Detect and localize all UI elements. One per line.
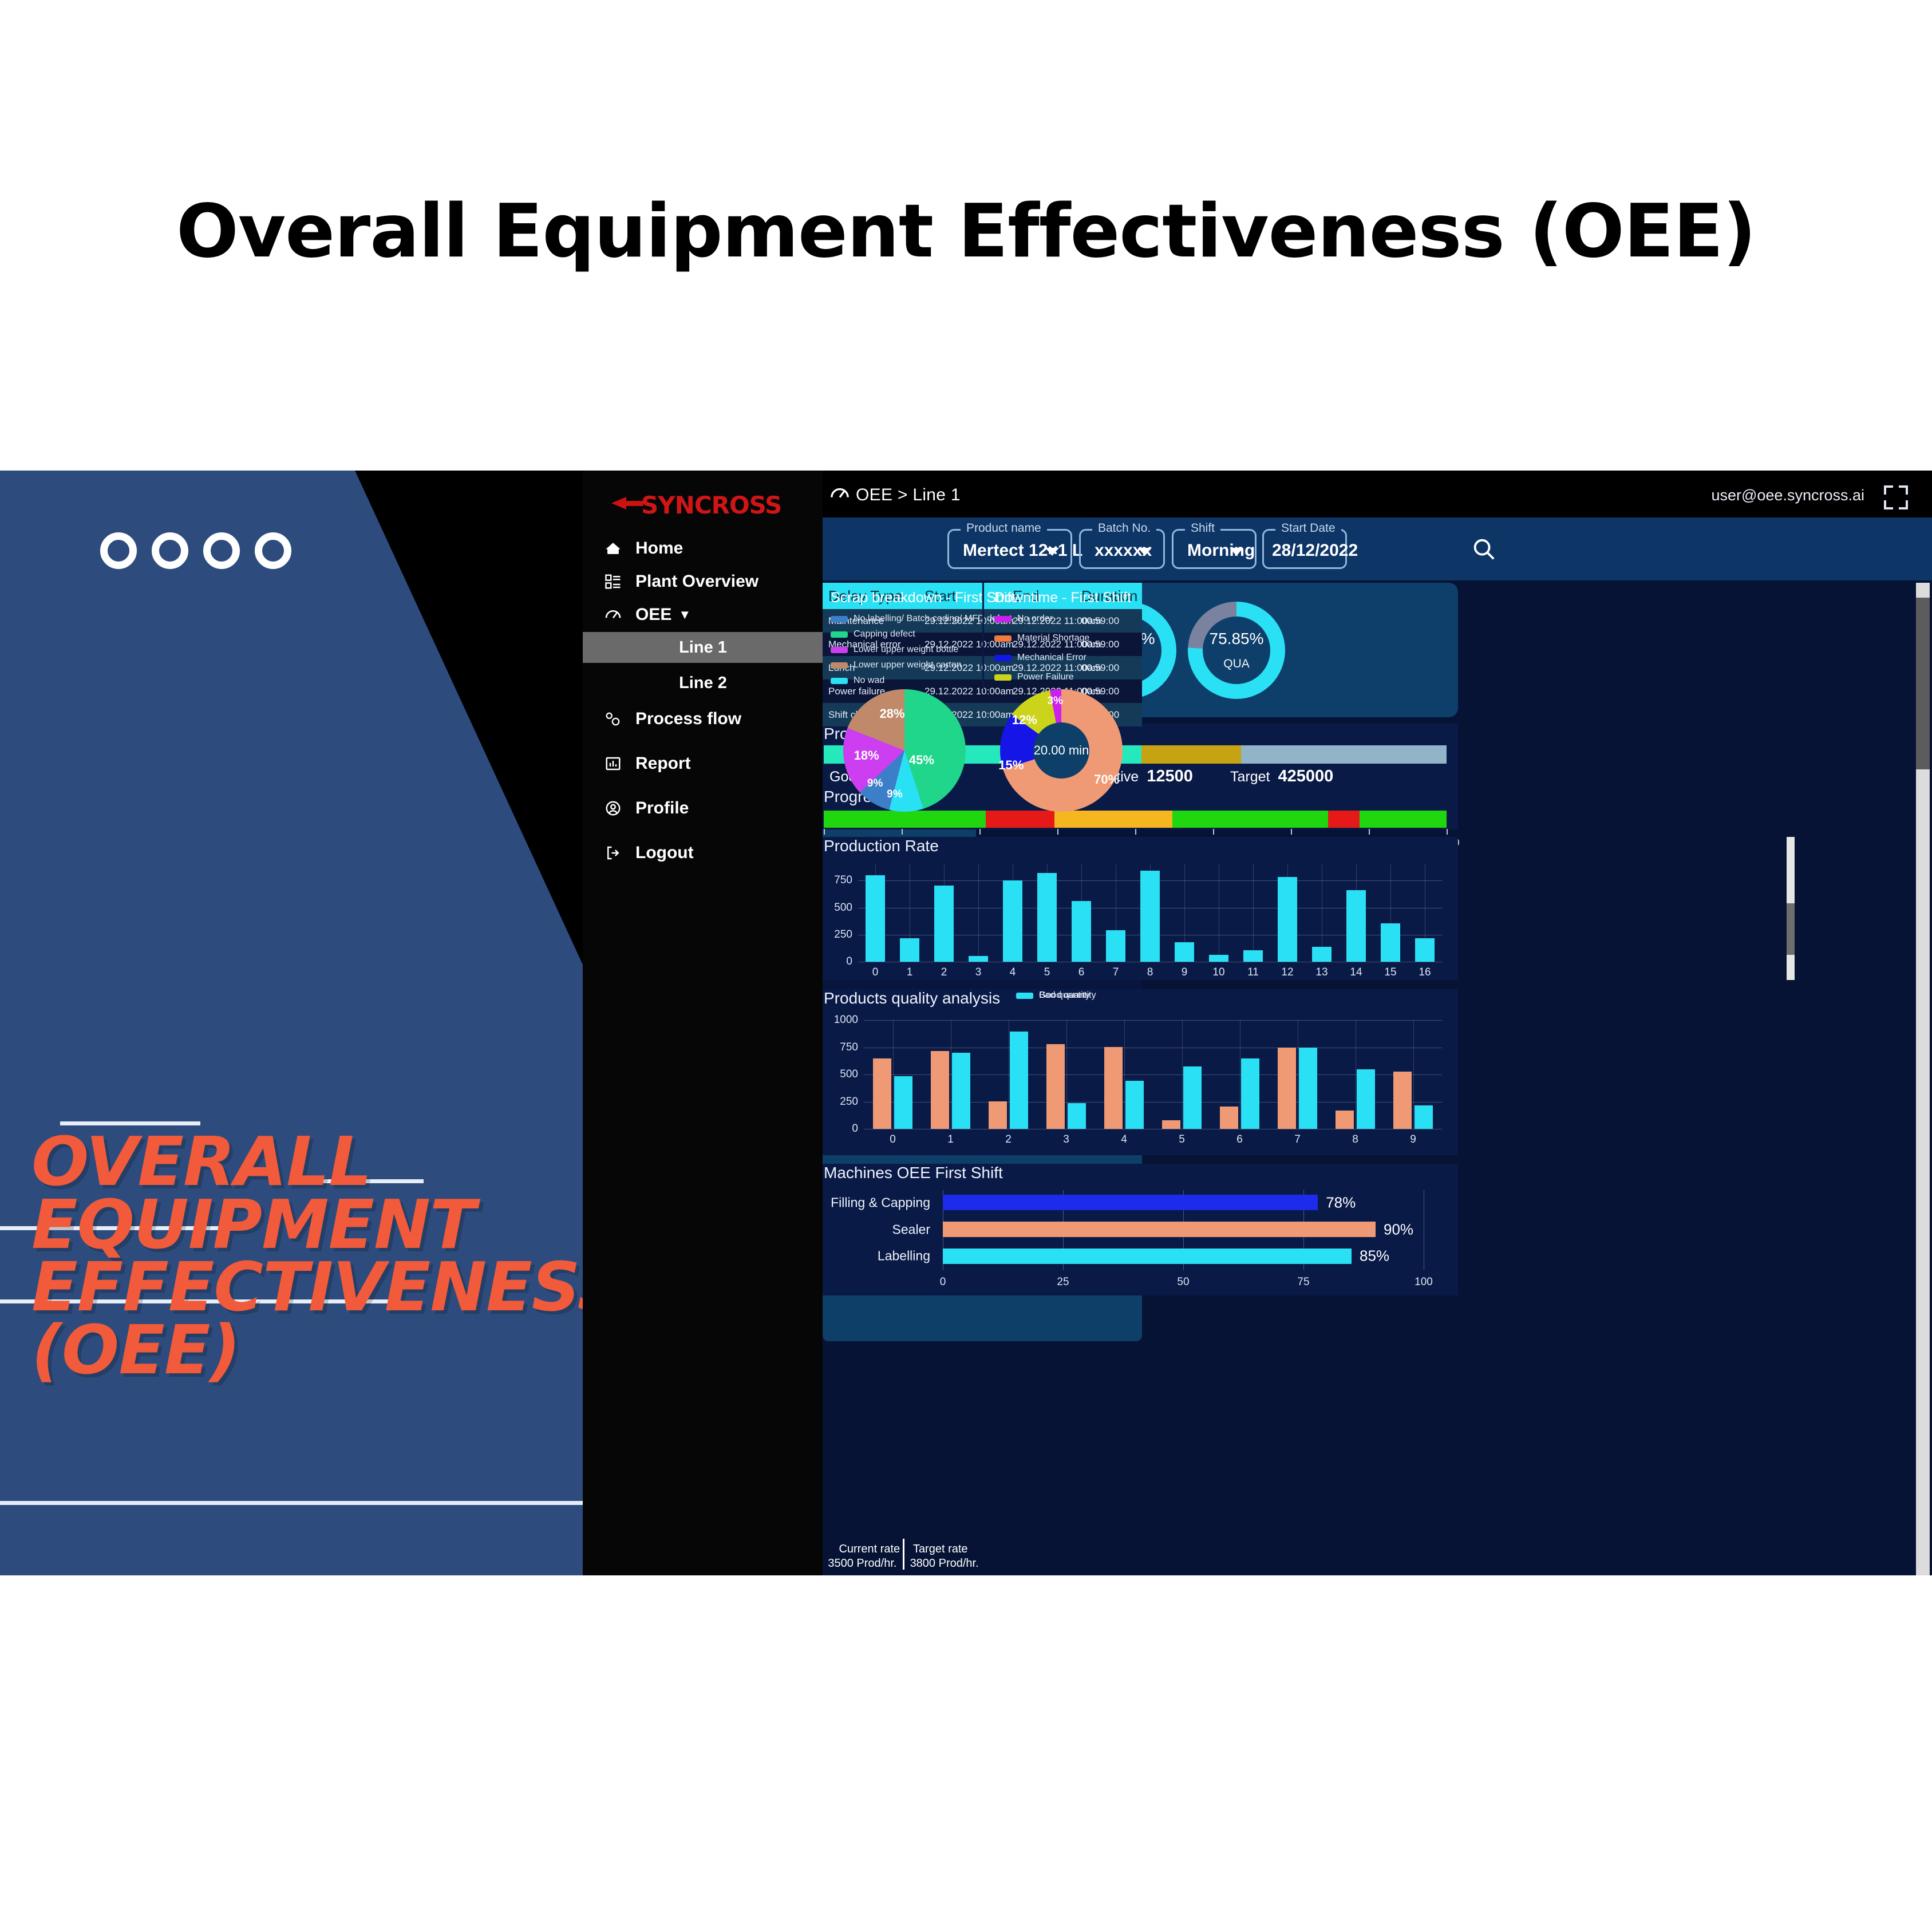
machines-oee-categories: Filling & CappingSealerLabelling — [823, 1190, 937, 1270]
field-caption: Product name — [961, 521, 1047, 535]
progress-segment — [824, 811, 986, 828]
target-rate-value: 3800 Prod/hr. — [910, 1557, 979, 1570]
y-axis-label: 250 — [840, 1096, 858, 1108]
sidebar-subitem-label: Line 1 — [679, 638, 727, 657]
x-axis-label: 25 — [1057, 1276, 1069, 1289]
legend-item[interactable]: No wad — [831, 675, 1012, 686]
x-axis-label: 1 — [947, 1133, 954, 1146]
bar — [1046, 1044, 1065, 1129]
gridline-vertical — [978, 864, 979, 962]
bar — [1312, 947, 1332, 962]
quality-analysis-chart-card: Products quality analysis Bad quantityGo… — [823, 989, 1458, 1155]
scrap-breakdown-pie: 45% 28% 18% 9% 9% — [843, 689, 966, 812]
x-axis-label: 5 — [1044, 966, 1050, 979]
legend-label: Lower upper weight carton — [854, 660, 962, 670]
legend-label: Good quantity — [1039, 990, 1096, 1001]
sidebar-item-label: Home — [635, 539, 683, 558]
x-axis-label: 4 — [1010, 966, 1016, 979]
rate-labels: Current rate Target rate 3500 Prod/hr. 3… — [823, 1542, 984, 1571]
legend-label: Material Shortage — [1017, 633, 1089, 643]
bar — [931, 1051, 949, 1129]
search-icon[interactable] — [1471, 536, 1497, 562]
fullscreen-icon[interactable] — [1884, 485, 1908, 509]
deco-circle — [203, 532, 240, 569]
x-axis-label: 4 — [1121, 1133, 1127, 1146]
donut-hole: 20.00 min — [1033, 722, 1089, 779]
gridline-vertical — [893, 1020, 894, 1129]
sidebar-item-logout[interactable]: Logout — [583, 837, 823, 869]
tick-mark — [1291, 829, 1292, 835]
sidebar-item-label: Profile — [635, 799, 689, 818]
x-axis-label: 7 — [1113, 966, 1119, 979]
progress-segment — [1360, 811, 1447, 828]
label-value: 425000 — [1278, 767, 1333, 785]
x-axis-label: 12 — [1281, 966, 1293, 979]
target-rate-label: Target rate — [913, 1543, 968, 1555]
gauge-value: 75.85% — [1210, 630, 1264, 648]
gridline-vertical — [1240, 1020, 1240, 1129]
chevron-down-icon[interactable] — [1045, 548, 1059, 556]
x-axis-label: 0 — [940, 1276, 946, 1289]
production-rate-plot: 0250500750012345678910111213141516 — [858, 864, 1442, 962]
bar — [1209, 955, 1228, 962]
pie-value: 15% — [998, 758, 1024, 773]
downtime-legend: No orderMaterial ShortageMechanical Erro… — [994, 614, 1089, 692]
progress-bar — [824, 811, 1447, 828]
gridline — [858, 962, 1442, 962]
pie-value: 9% — [867, 777, 883, 790]
gridline-vertical — [1253, 864, 1254, 962]
bar — [943, 1249, 1352, 1264]
x-axis-label: 10 — [1212, 966, 1224, 979]
sidebar-item-label: OEE — [635, 605, 671, 625]
tick-mark — [1213, 829, 1214, 835]
logo-text: SYNCROSS — [641, 491, 781, 519]
x-axis-label: 14 — [1350, 966, 1362, 979]
bar — [1003, 880, 1022, 962]
production-rate-chart-card: Production Rate 025050075001234567891011… — [823, 837, 1458, 980]
bar — [989, 1101, 1007, 1129]
machines-oee-chart-card: Machines OEE First Shift 025507510078%90… — [823, 1164, 1458, 1295]
gridline-vertical — [1298, 1020, 1298, 1129]
gridline-vertical — [1009, 1020, 1009, 1129]
page-title: Overall Equipment Effectiveness (OEE) — [0, 189, 1932, 274]
gridline-vertical — [951, 1020, 951, 1129]
quality-analysis-plot: 025050075010000123456789 — [864, 1020, 1442, 1129]
bar — [1278, 877, 1297, 962]
gridline-vertical — [1124, 1020, 1125, 1129]
bar — [1140, 871, 1160, 962]
product-name-select[interactable]: Product name Mertect 12×1 L — [947, 529, 1072, 569]
category-label: Labelling — [878, 1249, 930, 1264]
bar — [1415, 938, 1435, 962]
field-value: 28/12/2022 — [1272, 541, 1358, 560]
bar — [1278, 1048, 1296, 1129]
progress-segment — [1054, 811, 1173, 828]
x-axis-label: 13 — [1315, 966, 1327, 979]
shift-select[interactable]: Shift Morning — [1172, 529, 1257, 569]
bar — [866, 875, 885, 962]
downtime-breakdown-title: Downtime - First Shift — [994, 590, 1131, 606]
bar-value-label: 78% — [1326, 1194, 1356, 1211]
legend-label: No wad — [854, 675, 884, 686]
logo-bar — [624, 501, 643, 506]
chevron-down-icon[interactable] — [1138, 548, 1152, 556]
kpi-divider — [982, 583, 984, 689]
sidebar-item-oee[interactable]: OEE ▼ — [583, 599, 823, 631]
x-axis-label: 50 — [1177, 1276, 1189, 1289]
bar — [873, 1058, 891, 1129]
bar — [1037, 873, 1057, 962]
gears-icon — [600, 710, 626, 728]
gridline-vertical — [1219, 864, 1219, 962]
gridline-vertical — [1424, 1190, 1424, 1270]
sidebar-subitem-line-2[interactable]: Line 2 — [583, 667, 823, 698]
y-axis-label: 0 — [846, 955, 852, 968]
sidebar-item-process-flow[interactable]: Process flow — [583, 703, 823, 735]
x-axis-label: 0 — [872, 966, 879, 979]
bar — [1010, 1032, 1028, 1129]
quantity-target-label: Target425000 — [1230, 767, 1333, 786]
label-text: Target — [1230, 769, 1270, 785]
field-value: Mertect 12×1 L — [963, 541, 1082, 560]
pie-value: 28% — [880, 706, 905, 721]
bar — [1106, 930, 1125, 962]
legend-label: Capping defect — [854, 629, 915, 639]
legend-label: No labelling/ Batch coding/ MFD defect — [854, 614, 1012, 624]
bar — [900, 938, 919, 962]
sidebar: SYNCROSS Home Plant Overview OEE — [583, 471, 823, 1575]
table-scrollbar-thumb[interactable] — [1787, 903, 1795, 955]
dashboard-content: 79.05% OEE 83.45% AVA 60.27% PER — [823, 583, 1932, 1575]
progress-segment — [1328, 811, 1359, 828]
deco-circle — [255, 532, 291, 569]
legend-item[interactable]: Power Failure — [994, 672, 1089, 682]
bar — [1241, 1058, 1259, 1129]
slide-root: Overall Equipment Effectiveness (OEE) OV… — [0, 0, 1932, 1932]
batch-no-select[interactable]: Batch No. xxxxxx — [1079, 529, 1165, 569]
bar — [943, 1222, 1376, 1237]
donut-center-label: 20.00 min — [1034, 743, 1089, 758]
tick-mark — [824, 829, 825, 835]
progress-segment — [1172, 811, 1328, 828]
pie-value: 18% — [854, 748, 879, 763]
label-value: 12500 — [1147, 767, 1193, 785]
deco-circle — [152, 532, 188, 569]
grid-list-icon — [600, 573, 626, 590]
bar — [1415, 1105, 1433, 1129]
field-caption: Batch No. — [1092, 521, 1156, 535]
sidebar-item-label: Logout — [635, 843, 694, 863]
sidebar-item-label: Report — [635, 754, 691, 773]
x-axis-label: 6 — [1078, 966, 1085, 979]
bar — [1104, 1047, 1123, 1129]
legend-item[interactable]: Lower upper weight carton — [831, 660, 1012, 670]
sidebar-item-home[interactable]: Home — [583, 532, 823, 564]
pie-value: 9% — [887, 788, 902, 801]
legend-item[interactable]: No labelling/ Batch coding/ MFD defect — [831, 614, 1012, 624]
legend-item[interactable]: Good quantity — [1016, 990, 1096, 1001]
tick-mark — [1057, 829, 1058, 835]
pie-value: 70% — [1094, 772, 1119, 787]
legend-label: No order — [1017, 614, 1053, 624]
logout-icon — [600, 844, 626, 862]
bar — [1346, 890, 1366, 962]
gridline — [864, 1129, 1442, 1129]
breadcrumb[interactable]: OEE > Line 1 — [856, 485, 961, 505]
x-axis-label: 8 — [1352, 1133, 1358, 1146]
sidebar-item-label: Plant Overview — [635, 572, 758, 591]
field-caption: Shift — [1185, 521, 1220, 535]
sidebar-subitem-line-1[interactable]: Line 1 — [583, 632, 823, 663]
y-axis-label: 500 — [834, 902, 852, 914]
x-axis-label: 9 — [1182, 966, 1188, 979]
gridline-vertical — [1182, 1020, 1183, 1129]
tick-mark — [902, 829, 903, 835]
downtime-breakdown-donut: 20.00 min 70% 15% 12% 3% — [1000, 689, 1123, 812]
bar-chart-icon — [600, 755, 626, 772]
bar — [894, 1076, 912, 1129]
user-circle-icon — [600, 800, 626, 817]
field-value: Morning — [1187, 541, 1255, 560]
y-axis-label: 500 — [840, 1068, 858, 1081]
bar — [1072, 901, 1091, 962]
legend-label: Mechanical Error — [1017, 653, 1086, 663]
bar — [943, 1195, 1318, 1210]
x-axis-label: 8 — [1147, 966, 1153, 979]
sidebar-item-plant-overview[interactable]: Plant Overview — [583, 566, 823, 598]
x-axis-label: 3 — [1063, 1133, 1069, 1146]
start-date-field[interactable]: Start Date 28/12/2022 — [1262, 529, 1347, 569]
tick-mark — [1447, 829, 1448, 835]
bar — [1125, 1081, 1144, 1129]
deco-circle — [100, 532, 137, 569]
bar — [1068, 1103, 1086, 1129]
legend-label: Power Failure — [1017, 672, 1074, 682]
gauge-icon — [828, 482, 851, 505]
bar-value-label: 85% — [1360, 1247, 1389, 1265]
y-axis-label: 0 — [852, 1123, 858, 1135]
x-axis-label: 5 — [1179, 1133, 1185, 1146]
sidebar-subitem-label: Line 2 — [679, 674, 727, 693]
legend-item[interactable]: Capping defect — [831, 629, 1012, 639]
bar — [1299, 1048, 1317, 1129]
home-icon — [600, 539, 626, 558]
bar — [1243, 950, 1263, 962]
legend-item[interactable]: Material Shortage — [994, 633, 1089, 643]
x-axis-label: 15 — [1384, 966, 1396, 979]
pie-value: 12% — [1012, 713, 1037, 728]
bar-value-label: 90% — [1384, 1220, 1413, 1238]
bar — [1162, 1120, 1180, 1129]
scrap-legend: No labelling/ Batch coding/ MFD defectCa… — [831, 614, 1012, 691]
x-axis-label: 2 — [941, 966, 947, 979]
gridline-vertical — [1356, 1020, 1356, 1129]
pie-value: 3% — [1048, 695, 1063, 708]
quantity-target-segment — [1241, 745, 1447, 764]
y-axis-label: 250 — [834, 929, 852, 941]
chart-title: Machines OEE First Shift — [824, 1164, 1003, 1182]
bar — [934, 886, 954, 962]
legend-item[interactable]: Mechanical Error — [994, 653, 1089, 663]
gauge-label: QUA — [1223, 657, 1250, 671]
bar — [1357, 1069, 1375, 1129]
y-axis-label: 1000 — [834, 1014, 858, 1026]
x-axis-label: 75 — [1297, 1276, 1309, 1289]
x-axis-label: 7 — [1294, 1133, 1301, 1146]
bar — [1393, 1072, 1412, 1129]
sidebar-item-label: Process flow — [635, 709, 741, 729]
progress-segment — [986, 811, 1054, 828]
bar — [1220, 1107, 1238, 1129]
bar — [969, 956, 988, 962]
bar — [1336, 1111, 1354, 1129]
legend-item[interactable]: Lower upper weight bottle — [831, 645, 1012, 655]
syncross-logo: SYNCROSS — [611, 487, 800, 521]
pie-value: 45% — [909, 753, 934, 768]
x-axis-label: 2 — [1005, 1133, 1012, 1146]
category-label: Sealer — [892, 1222, 930, 1237]
top-bar: OEE > Line 1 user@oee.syncross.ai — [823, 471, 1932, 517]
x-axis-label: 1 — [907, 966, 913, 979]
quantity-defective-segment — [1141, 745, 1241, 764]
current-rate-value: 3500 Prod/hr. — [828, 1557, 896, 1570]
x-axis-label: 0 — [890, 1133, 896, 1146]
gauge-icon — [600, 606, 626, 624]
x-axis-label: 6 — [1236, 1133, 1243, 1146]
x-axis-label: 11 — [1247, 966, 1259, 979]
filter-bar: Product name Mertect 12×1 L Batch No. xx… — [823, 517, 1932, 580]
x-axis-label: 16 — [1419, 966, 1431, 979]
tick-mark — [1369, 829, 1370, 835]
y-axis-label: 750 — [834, 874, 852, 887]
sidebar-item-report[interactable]: Report — [583, 748, 823, 780]
x-axis-label: 3 — [975, 966, 982, 979]
tick-mark — [979, 829, 981, 835]
gauge-qua: 75.85% QUA — [1188, 602, 1285, 699]
gridline-vertical — [1066, 1020, 1067, 1129]
chart-title: Products quality analysis — [824, 989, 1000, 1008]
category-label: Filling & Capping — [831, 1195, 930, 1210]
gridline-vertical — [1413, 1020, 1414, 1129]
x-axis-label: 9 — [1410, 1133, 1416, 1146]
bar — [1183, 1066, 1202, 1129]
app-window: OEE > Line 1 user@oee.syncross.ai Produc… — [823, 471, 1932, 1575]
bar — [1175, 942, 1194, 962]
bar — [1381, 923, 1400, 962]
sidebar-item-profile[interactable]: Profile — [583, 792, 823, 824]
scrollbar-thumb[interactable] — [1916, 598, 1930, 769]
tick-mark — [1135, 829, 1136, 835]
legend-label: Lower upper weight bottle — [854, 645, 958, 655]
user-email[interactable]: user@oee.syncross.ai — [1711, 487, 1864, 504]
machines-oee-plot: 025507510078%90%85% — [943, 1190, 1424, 1270]
scrap-breakdown-title: Scrap breakdown - First Shift — [831, 590, 1015, 606]
x-axis-label: 100 — [1415, 1276, 1433, 1289]
chart-title: Production Rate — [824, 837, 939, 855]
legend-item[interactable]: No order — [994, 614, 1089, 624]
current-rate-label: Current rate — [839, 1543, 900, 1555]
field-caption: Start Date — [1275, 521, 1341, 535]
y-axis-label: 750 — [840, 1041, 858, 1054]
chevron-down-icon[interactable]: ▼ — [678, 607, 691, 622]
chevron-down-icon[interactable] — [1230, 548, 1243, 556]
bar — [952, 1053, 970, 1129]
